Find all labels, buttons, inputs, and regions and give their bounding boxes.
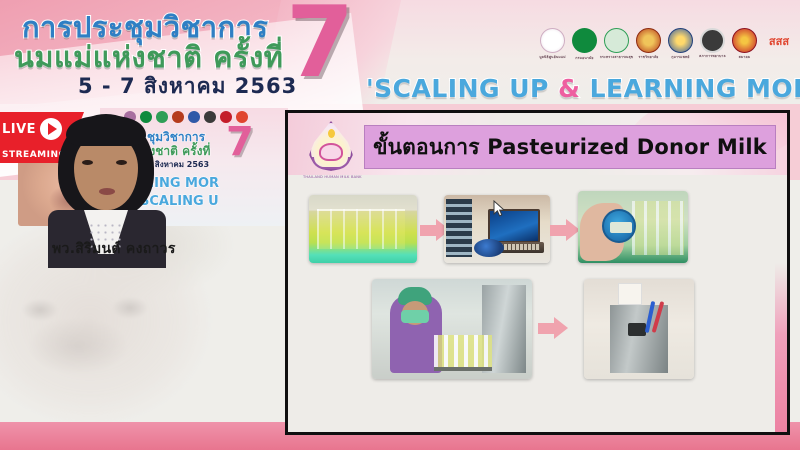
- cradling-hands-icon: [312, 157, 350, 169]
- slide-right-accent: [775, 263, 789, 435]
- slide-screenshot: การประชุมวิชาการ นมแม่แห่งชาติ ครั้งที่ …: [0, 0, 800, 450]
- red-seal-logo: สมาคม: [732, 28, 757, 53]
- tagline-ampersand: &: [558, 74, 580, 103]
- speaker-mouth: [99, 188, 115, 195]
- milk-bottles-rack-photo: [309, 195, 417, 263]
- thermometer-icon: [602, 209, 636, 243]
- ministry-public-health-logo: กรมอนามัย: [572, 28, 597, 53]
- presentation-slide: THAILAND HUMAN MILK BANK ขั้นตอนการ Past…: [285, 110, 790, 435]
- thai-pediatric-logo: กุมารแพทย์: [668, 28, 693, 53]
- tagline-part1: 'SCALING UP: [366, 74, 558, 103]
- shelf-detail: [446, 199, 472, 257]
- live-label: LIVE: [2, 122, 36, 137]
- speaker-eye-left: [82, 160, 93, 165]
- slide-title: ขั้นตอนการ Pasteurized Donor Milk: [364, 125, 776, 169]
- human-milk-bank-logo: THAILAND HUMAN MILK BANK: [303, 119, 359, 179]
- edition-number: 7: [286, 0, 354, 92]
- thermometer-display: [610, 222, 632, 233]
- nurse-loading-bottles-photo: [372, 279, 532, 379]
- royal-college-logo: ราชวิทยาลัย: [636, 28, 661, 53]
- conference-tagline: 'SCALING UP & LEARNING MORE': [366, 74, 800, 103]
- health-department-logo: กระทรวงสาธารณสุข: [604, 28, 629, 53]
- thermometer-bottle-rack: [632, 201, 684, 255]
- wall-notice: [618, 283, 642, 305]
- data-logger-probe: [474, 239, 504, 257]
- speaker-fringe: [66, 116, 146, 146]
- nursing-council-logo: สภาการพยาบาล: [700, 28, 725, 53]
- pasteurizer-machine-photo: [584, 279, 694, 379]
- bottle-rack-detail: [317, 209, 405, 249]
- logo-caption: THAILAND HUMAN MILK BANK: [303, 175, 359, 179]
- conference-date: 5 - 7 สิงหาคม 2563: [78, 70, 297, 103]
- digital-thermometer-photo: [578, 191, 688, 263]
- poster-edition-number: 7: [226, 122, 254, 162]
- speaker-eye-right: [116, 160, 127, 165]
- sponsor-logo-strip: มูลนิธิศูนย์นมแม่ กรมอนามัย กระทรวงสาธาร…: [540, 28, 794, 53]
- milk-drop-highlight: [328, 129, 335, 138]
- tagline-part2: LEARNING MORE': [580, 74, 800, 103]
- presenter-name: พว.สิริมนต์ คงถาวร: [52, 238, 176, 260]
- thaihealth-sss-logo: สสส: [764, 28, 794, 53]
- royal-emblem-logo: มูลนิธิศูนย์นมแม่: [540, 28, 565, 53]
- arrow-step2-to-step3: [550, 219, 580, 241]
- arrow-step4-to-step5: [538, 317, 568, 339]
- pasteurizer-control-panel: [628, 323, 646, 336]
- bottle-tray-detail: [434, 335, 492, 371]
- face-mask-icon: [401, 310, 429, 323]
